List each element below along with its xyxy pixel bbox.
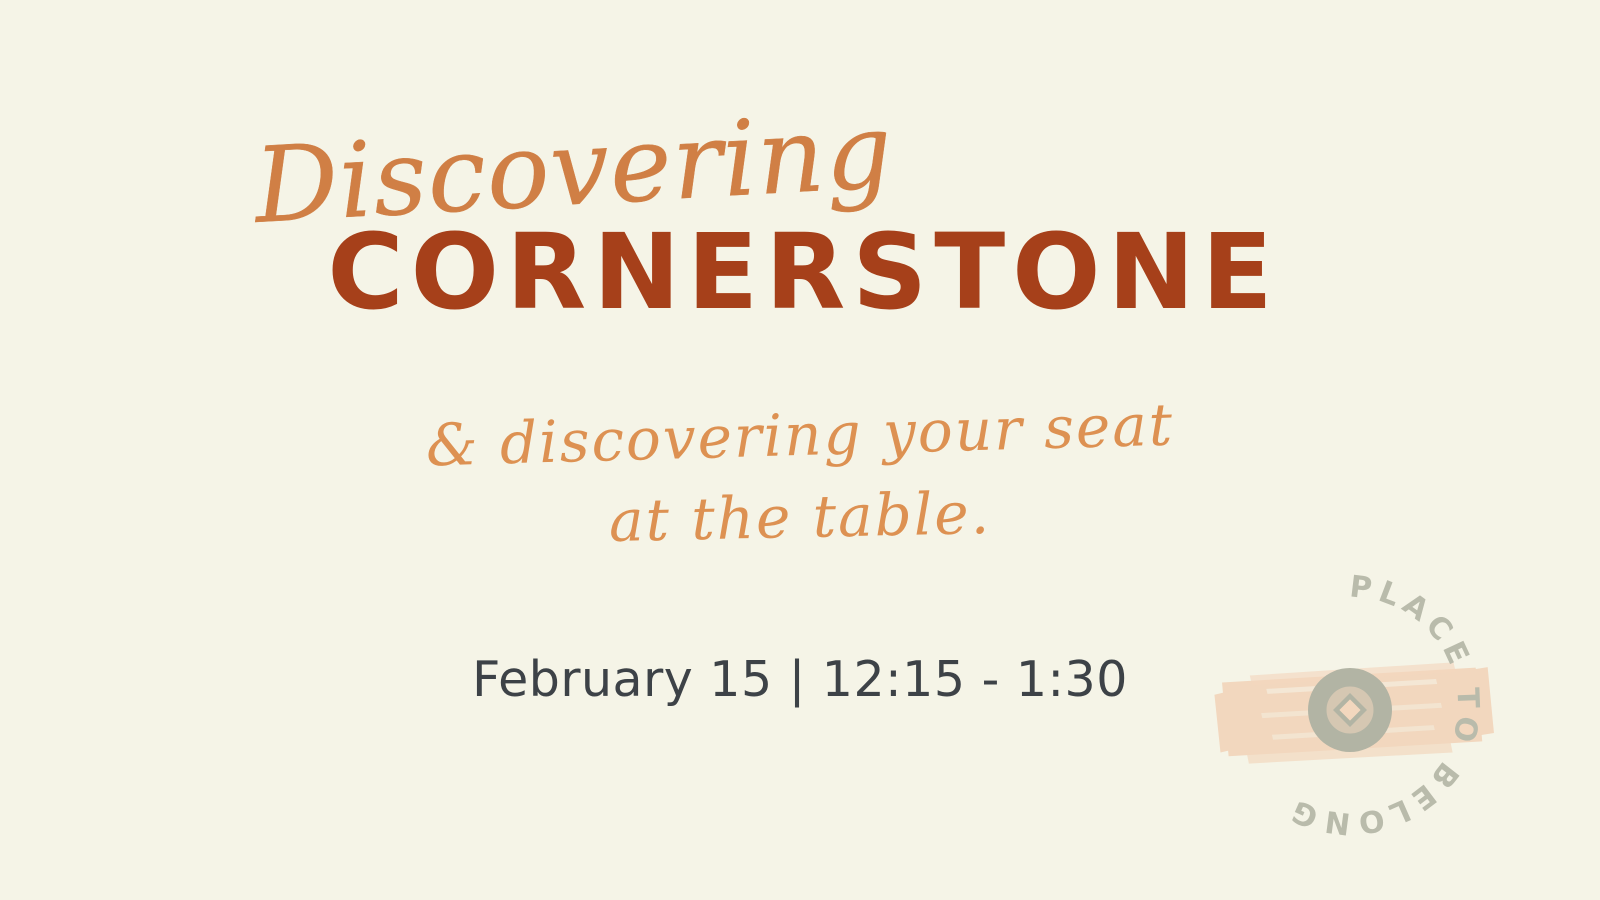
subtitle: & discovering your seat at the table. [0, 396, 1600, 556]
page-title: CORNERSTONE [0, 212, 1600, 332]
flyer-canvas: A PLACE TO BELONG Discovering CORNERSTON… [0, 0, 1600, 900]
event-datetime: February 15 | 12:15 - 1:30 [0, 648, 1600, 712]
